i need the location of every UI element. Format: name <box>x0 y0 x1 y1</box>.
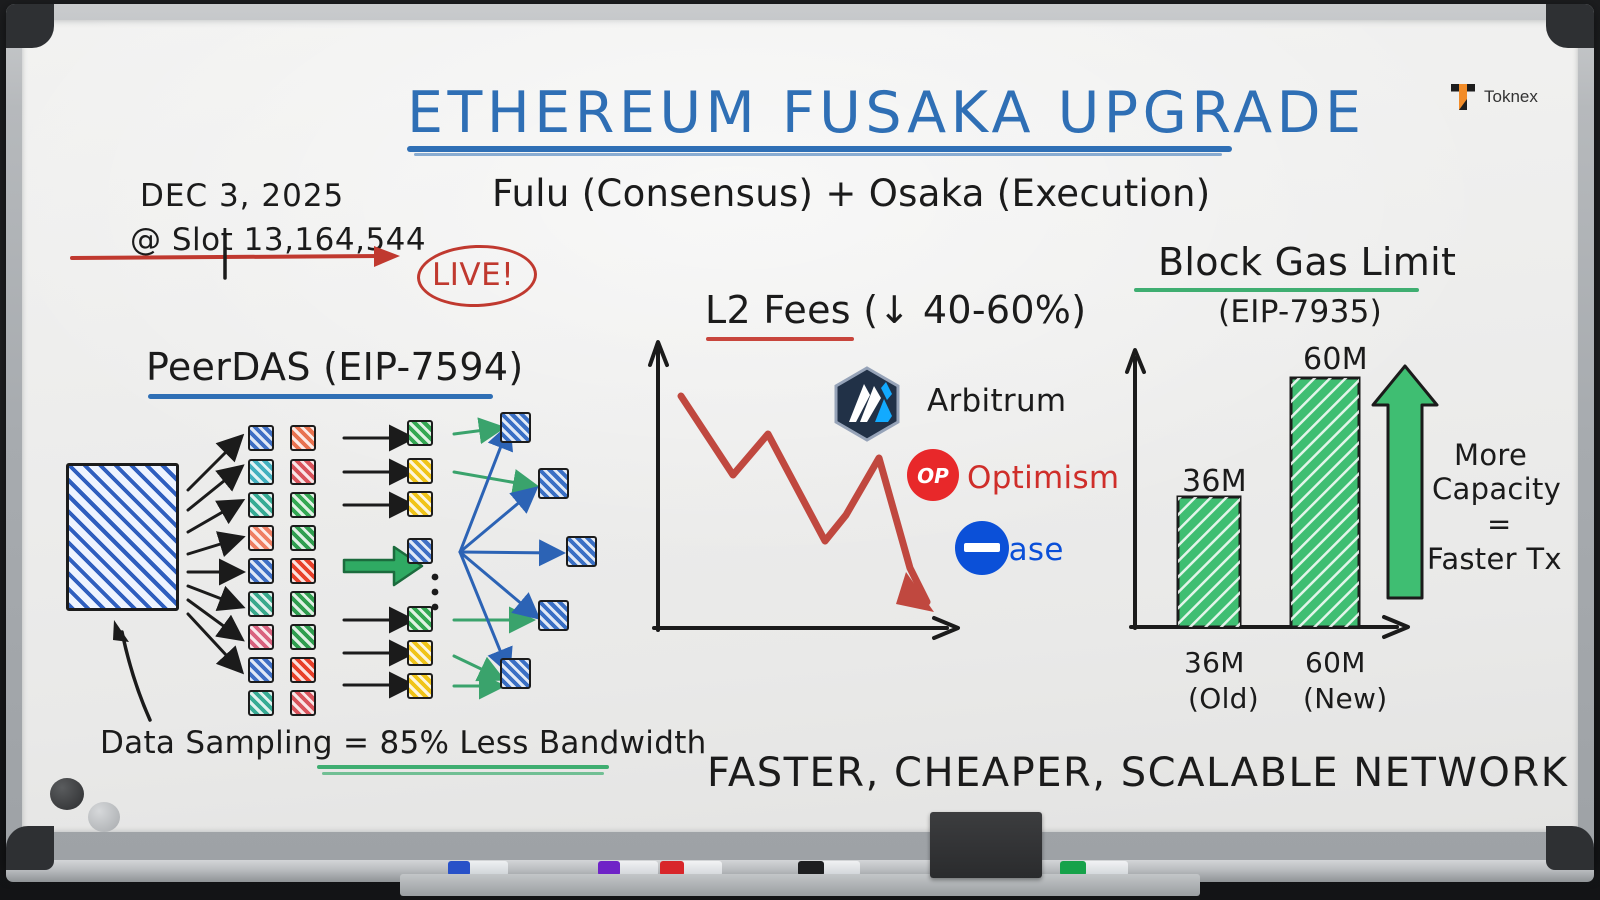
dark-magnet <box>50 778 84 810</box>
screenshot-root: Toknex ETHEREUM FUSAKA UPGRADE Fulu (Con… <box>0 0 1600 900</box>
bar-36m <box>1178 497 1240 627</box>
capacity-note-line2: Capacity <box>1432 472 1561 506</box>
bar-60m-caption-sub: (New) <box>1303 682 1387 715</box>
peerdas-title: PeerDAS (EIP-7594) <box>146 345 524 389</box>
capacity-note-line3: = <box>1487 507 1512 541</box>
optimism-label: Optimism <box>967 460 1119 496</box>
caption-pointer-arrow <box>113 620 150 720</box>
launch-slot: @ Slot 13,164,544 <box>130 222 426 258</box>
frame-corner-bottom-left <box>6 826 54 870</box>
shard-transfer-arrows <box>344 438 410 685</box>
title-underline-secondary <box>414 153 1222 156</box>
whiteboard-eraser[interactable] <box>930 812 1042 878</box>
base-label: Base <box>987 532 1064 568</box>
bar-60m-value-label: 60M <box>1303 342 1368 377</box>
whiteboard-surface: Toknex ETHEREUM FUSAKA UPGRADE Fulu (Con… <box>22 20 1578 832</box>
frame-corner-top-right <box>1546 4 1594 48</box>
gas-limit-underline <box>1134 288 1419 292</box>
svg-text:OP: OP <box>917 464 949 488</box>
gas-limit-eip: (EIP-7935) <box>1218 294 1382 330</box>
distribution-green-arrows <box>454 428 534 686</box>
tray-lip <box>400 874 1200 896</box>
sampling-caption: Data Sampling = 85% Less Bandwidth <box>100 725 707 761</box>
bar-chart-axes <box>1127 350 1408 637</box>
frame-corner-top-left <box>6 4 54 48</box>
bar-36m-caption: 36M <box>1184 646 1245 679</box>
status-badge: LIVE! <box>432 257 514 293</box>
sampling-caption-underline-2 <box>322 772 604 775</box>
capacity-note-line4: Faster Tx <box>1427 542 1562 576</box>
arbitrum-logo-icon <box>836 368 898 440</box>
chart-axes <box>650 342 958 638</box>
peer-fanout-blue-arrows <box>460 428 560 670</box>
page-subtitle: Fulu (Consensus) + Osaka (Execution) <box>492 172 1211 215</box>
brand-name: Toknex <box>1484 87 1538 107</box>
optimism-logo-icon: OP <box>907 449 959 501</box>
light-magnet <box>88 802 120 832</box>
gas-limit-title: Block Gas Limit <box>1158 240 1456 284</box>
frame-corner-bottom-right <box>1546 826 1594 870</box>
blob-data-square <box>66 463 179 611</box>
toknex-t-logo-icon <box>1450 82 1476 112</box>
tagline: FASTER, CHEAPER, SCALABLE NETWORK <box>707 750 1568 796</box>
ellipsis-dots <box>432 574 439 611</box>
l2-fees-underline <box>706 337 854 341</box>
page-title: ETHEREUM FUSAKA UPGRADE <box>407 80 1366 146</box>
launch-date: DEC 3, 2025 <box>140 178 344 214</box>
title-underline <box>407 146 1232 152</box>
sampling-caption-underline <box>317 765 609 769</box>
l2-fee-trend-line <box>681 396 934 612</box>
brand-logo: Toknex <box>1450 82 1538 112</box>
capacity-note-line1: More <box>1454 438 1527 472</box>
bar-36m-value-label: 36M <box>1182 464 1247 499</box>
l2-fees-title: L2 Fees (↓ 40-60%) <box>705 288 1086 332</box>
bar-36m-caption-sub: (Old) <box>1188 682 1259 715</box>
peerdas-underline <box>148 394 493 399</box>
blob-to-shards-arrows <box>188 438 240 670</box>
arbitrum-label: Arbitrum <box>927 383 1066 419</box>
bar-60m <box>1291 378 1359 627</box>
bar-60m-caption: 60M <box>1305 646 1366 679</box>
